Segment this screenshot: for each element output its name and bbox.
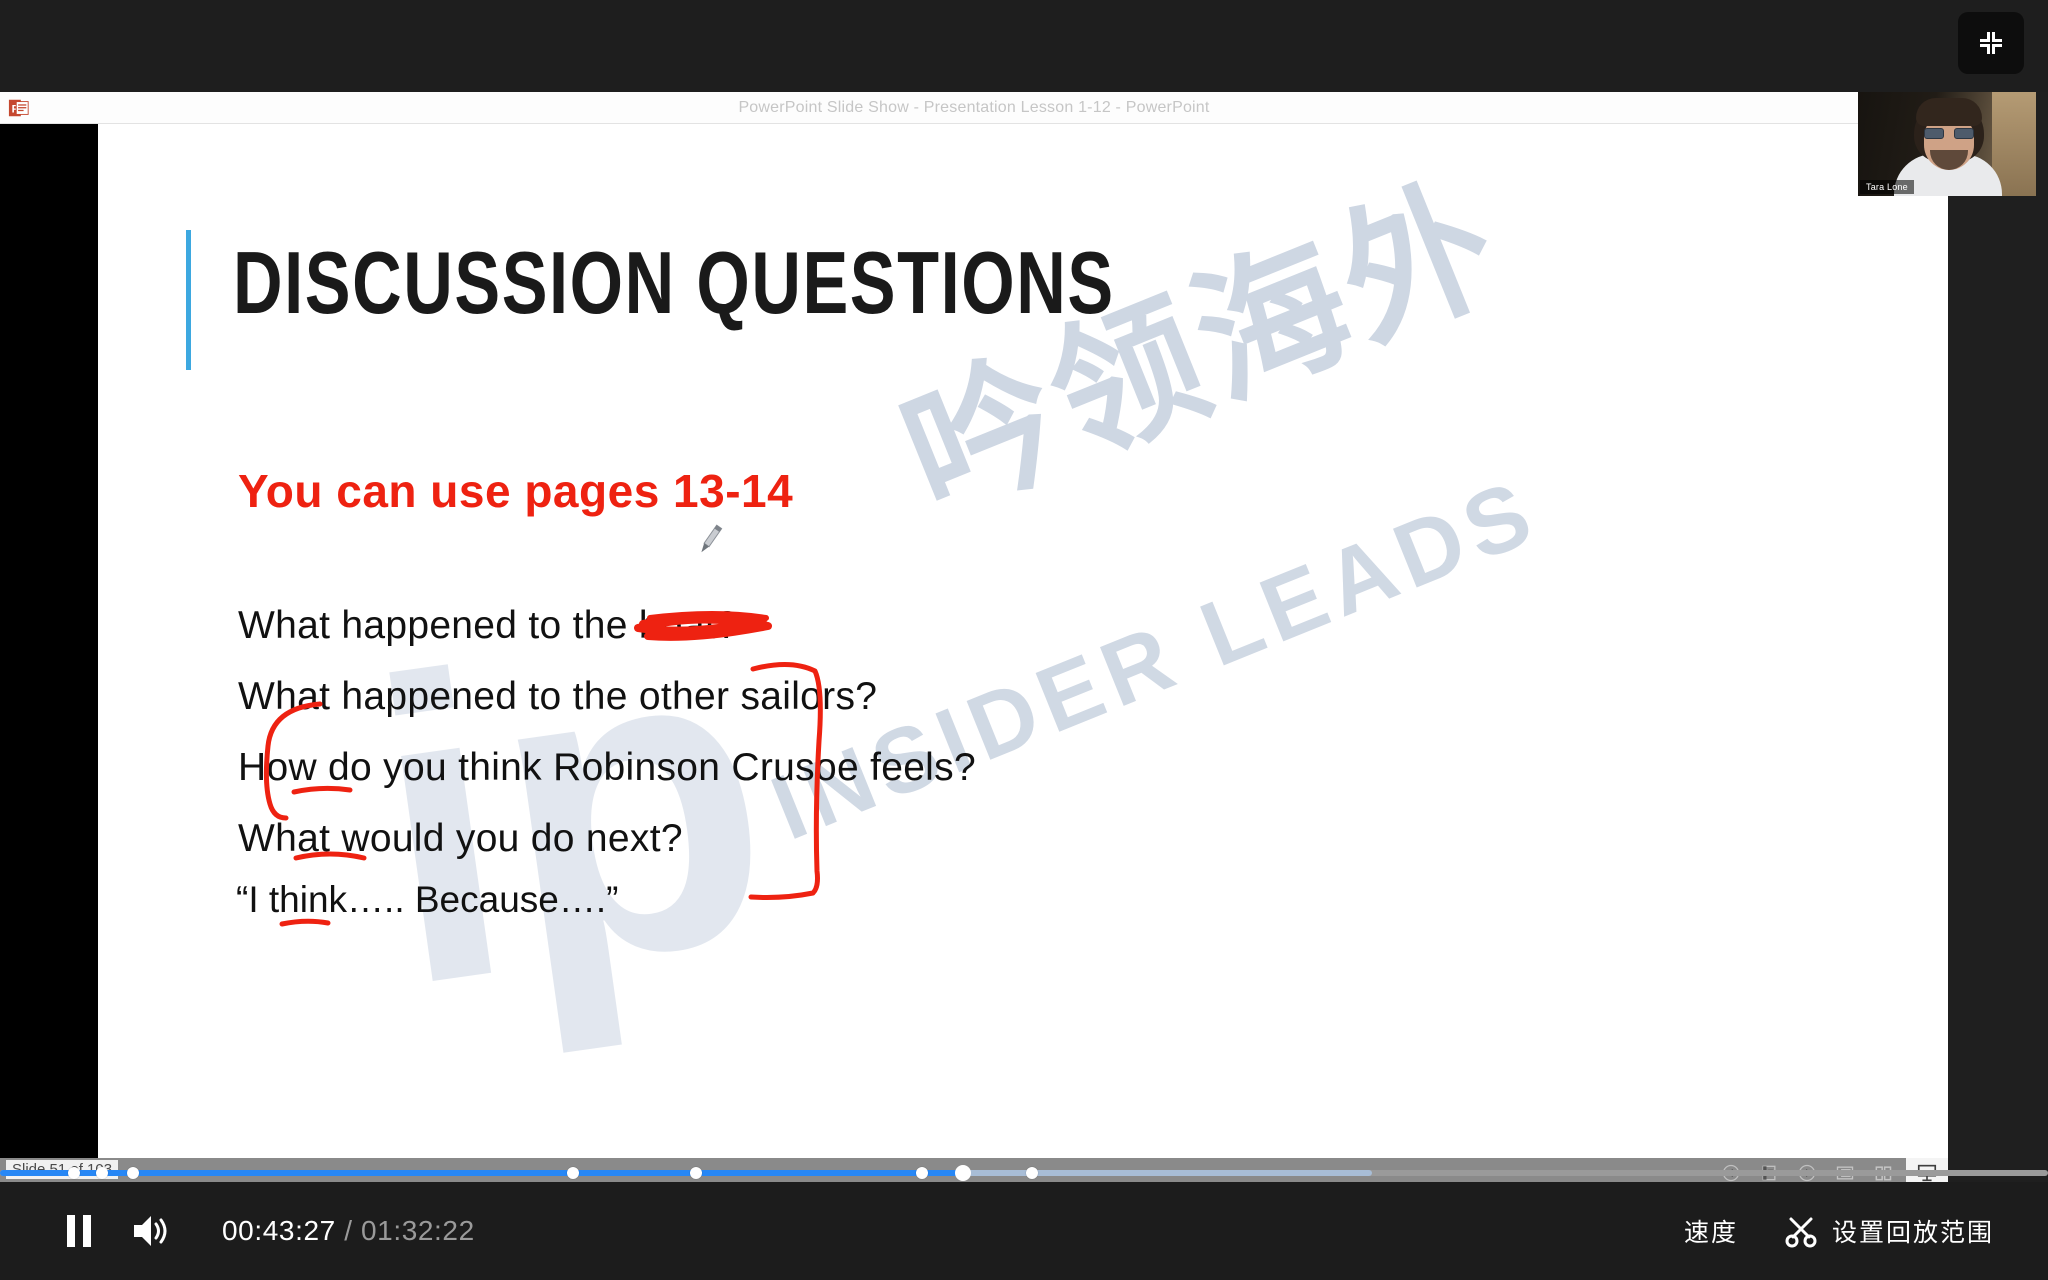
watermark-chinese: 吟领海外 <box>868 124 1528 555</box>
slide-title: DISCUSSION QUESTIONS <box>233 232 1115 334</box>
title-accent-bar <box>186 230 191 370</box>
volume-on-icon <box>130 1212 170 1250</box>
chapter-marker[interactable] <box>96 1167 108 1179</box>
total-time: 01:32:22 <box>361 1215 475 1246</box>
current-time: 00:43:27 <box>222 1215 336 1246</box>
time-separator: / <box>344 1215 352 1246</box>
pause-icon <box>62 1211 96 1251</box>
progress-fill <box>0 1170 963 1176</box>
slide-canvas[interactable]: ip 吟领海外 INSIDER LEADS DISCUSSION QUESTIO… <box>98 124 1948 1158</box>
chapter-marker[interactable] <box>567 1167 579 1179</box>
pen-cursor-icon <box>690 520 730 560</box>
powerpoint-icon: P <box>8 96 30 120</box>
progress-thumb[interactable] <box>955 1165 971 1181</box>
webcam-hair-top <box>1916 98 1982 126</box>
chapter-marker[interactable] <box>1026 1167 1038 1179</box>
volume-button[interactable] <box>130 1212 170 1250</box>
set-playback-range-button[interactable]: 设置回放范围 <box>1784 1213 1994 1249</box>
progress-bar[interactable] <box>0 1164 2048 1182</box>
scissors-icon <box>1784 1214 1818 1248</box>
question-text: What happened to the other sailors? <box>238 675 877 719</box>
webcam-thumbnail[interactable]: Tara Lone <box>1858 92 2036 196</box>
window-title: PowerPoint Slide Show - Presentation Les… <box>0 99 1948 117</box>
exit-fullscreen-icon <box>1976 28 2006 58</box>
time-display: 00:43:27 / 01:32:22 <box>222 1215 475 1247</box>
chapter-marker[interactable] <box>690 1167 702 1179</box>
question-text: What happened to the boat? <box>238 604 738 648</box>
slide-stage[interactable]: ip 吟领海外 INSIDER LEADS DISCUSSION QUESTIO… <box>0 124 1948 1158</box>
participant-name-label: Tara Lone <box>1860 180 1914 194</box>
set-playback-range-label: 设置回放范围 <box>1832 1213 1994 1249</box>
player-control-bar: 00:43:27 / 01:32:22 速度 设置回放范围 <box>0 1182 2048 1280</box>
sentence-starter-text: “I think….. Because….” <box>236 879 618 921</box>
question-text: How do you think Robinson Crusoe feels? <box>238 746 976 790</box>
playback-speed-button[interactable]: 速度 <box>1684 1213 1738 1249</box>
chapter-marker[interactable] <box>68 1167 80 1179</box>
video-player-page: P PowerPoint Slide Show - Presentation L… <box>0 0 2048 1280</box>
exit-fullscreen-button[interactable] <box>1958 12 2024 74</box>
play-pause-button[interactable] <box>62 1211 96 1251</box>
webcam-glasses <box>1924 128 1974 139</box>
chapter-marker[interactable] <box>127 1167 139 1179</box>
powerpoint-title-bar: P PowerPoint Slide Show - Presentation L… <box>0 92 1948 124</box>
question-text: What would you do next? <box>238 817 683 861</box>
watermark-english: INSIDER LEADS <box>758 459 1553 861</box>
top-bar <box>0 0 2048 92</box>
chapter-marker[interactable] <box>916 1167 928 1179</box>
page-reference-text: You can use pages 13-14 <box>238 464 793 518</box>
